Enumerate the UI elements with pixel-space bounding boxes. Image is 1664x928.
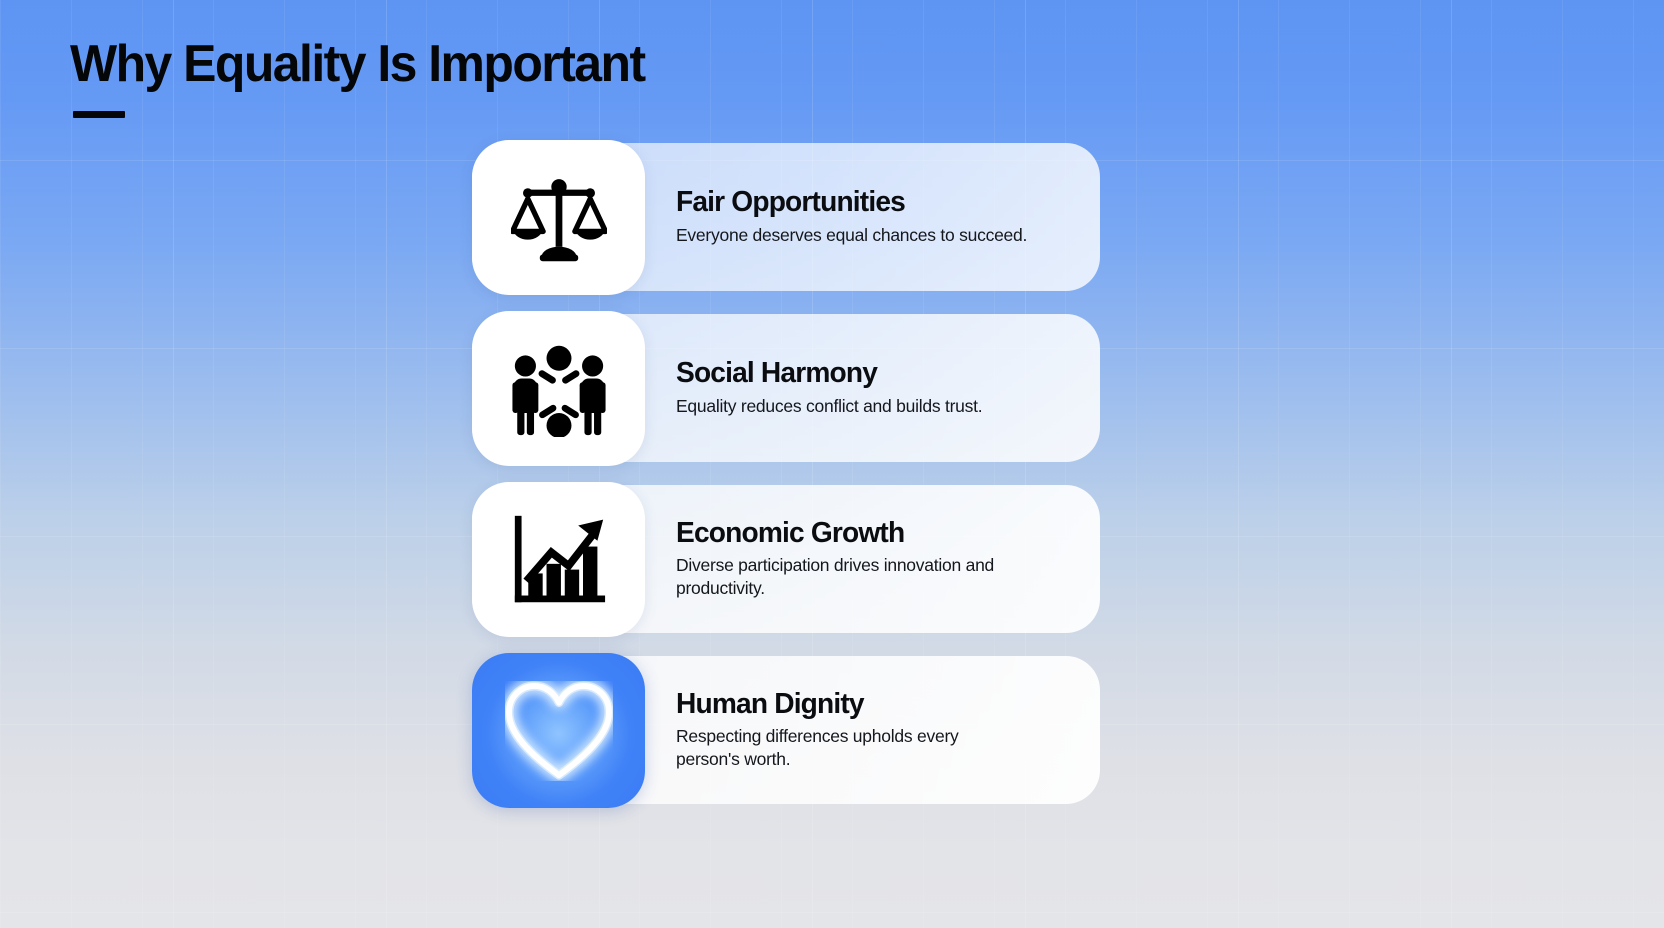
- feature-card-fair-opportunities[interactable]: Fair Opportunities Everyone deserves equ…: [472, 143, 1100, 291]
- people-group-icon: [509, 341, 609, 437]
- card-title: Human Dignity: [676, 689, 1016, 719]
- feature-card-human-dignity[interactable]: Human Dignity Respecting differences uph…: [472, 656, 1100, 804]
- card-title: Social Harmony: [676, 358, 973, 388]
- growth-chart-icon: [511, 512, 607, 608]
- card-description: Respecting differences upholds every per…: [676, 725, 1026, 772]
- card-description: Diverse participation drives innovation …: [676, 554, 1026, 601]
- card-text-block: Social Harmony Equality reduces conflict…: [676, 358, 1002, 418]
- icon-tile-fair-opportunities: [472, 140, 645, 295]
- card-title: Fair Opportunities: [676, 187, 1017, 217]
- page-title: Why Equality Is Important: [70, 38, 645, 90]
- card-description: Everyone deserves equal chances to succe…: [676, 224, 1027, 247]
- card-text-block: Economic Growth Diverse participation dr…: [676, 518, 1046, 601]
- feature-card-social-harmony[interactable]: Social Harmony Equality reduces conflict…: [472, 314, 1100, 462]
- title-underline-rule: [73, 111, 125, 118]
- card-text-block: Human Dignity Respecting differences uph…: [676, 689, 1046, 772]
- icon-tile-economic-growth: [472, 482, 645, 637]
- icon-tile-social-harmony: [472, 311, 645, 466]
- heart-outline-icon: [505, 681, 613, 781]
- card-text-block: Fair Opportunities Everyone deserves equ…: [676, 187, 1047, 247]
- card-title: Economic Growth: [676, 518, 1016, 548]
- slide-canvas: Why Equality Is Important: [0, 0, 1664, 928]
- card-description: Equality reduces conflict and builds tru…: [676, 395, 982, 418]
- balance-scale-icon: [511, 170, 607, 266]
- title-block: Why Equality Is Important: [70, 38, 669, 118]
- icon-tile-human-dignity: [472, 653, 645, 808]
- feature-card-economic-growth[interactable]: Economic Growth Diverse participation dr…: [472, 485, 1100, 633]
- feature-card-list: Fair Opportunities Everyone deserves equ…: [472, 143, 1100, 827]
